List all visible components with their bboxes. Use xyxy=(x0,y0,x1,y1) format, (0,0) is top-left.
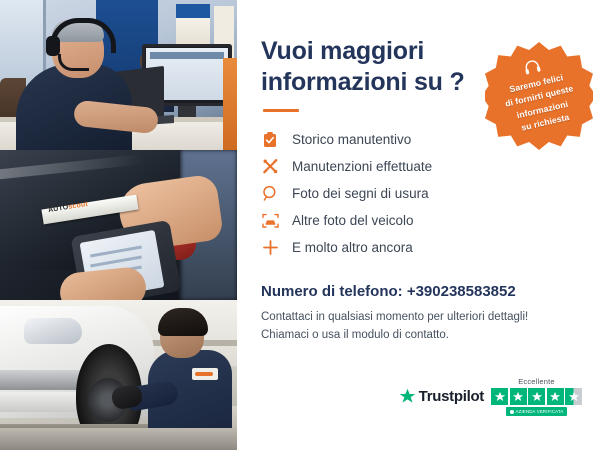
page-title-line1: Vuoi maggiori xyxy=(261,37,424,65)
contact-description-line2: Chiamaci o usa il modulo di contatto. xyxy=(261,329,449,341)
star-filled xyxy=(547,388,564,405)
trustpilot-widget[interactable]: Trustpilot Eccellente xyxy=(399,377,582,416)
uniform-logo-patch xyxy=(192,368,218,380)
star-filled xyxy=(491,388,508,405)
car-headlight xyxy=(24,318,82,344)
car-frame-icon xyxy=(261,212,279,230)
headset-icon xyxy=(523,58,543,76)
promo-banner: AUTOscout xyxy=(0,0,600,450)
monitor-screen-toolbar xyxy=(150,52,224,59)
contact-description: Contattaci in qualsiasi momento per ulte… xyxy=(261,309,578,345)
workshop-floor xyxy=(0,428,237,450)
list-item: Foto dei segni di usura xyxy=(261,180,578,207)
plus-icon xyxy=(261,239,279,257)
orange-pillar xyxy=(223,58,237,150)
tools-cross-icon xyxy=(261,158,279,176)
star-half xyxy=(565,388,582,405)
photo-vehicle-inspection: AUTOscout xyxy=(0,150,237,300)
list-item: E molto altro ancora xyxy=(261,234,578,261)
page-title-line2: informazioni su ? xyxy=(261,68,465,96)
inspector-hand-lower xyxy=(58,266,148,300)
magnifier-icon xyxy=(261,185,279,203)
trustpilot-rating-label: Eccellente xyxy=(518,377,555,386)
car-grille xyxy=(0,370,82,390)
headset-earcup xyxy=(46,36,60,56)
list-item: Manutenzioni effettuate xyxy=(261,153,578,180)
photo-call-center-agent xyxy=(0,0,237,150)
phone-number-label: Numero di telefono: +390238583852 xyxy=(261,283,578,300)
mechanic-hair xyxy=(158,308,208,336)
list-item-label: Storico manutentivo xyxy=(292,132,411,147)
title-underline xyxy=(263,109,299,112)
list-item-label: Foto dei segni di usura xyxy=(292,186,429,201)
star-filled xyxy=(528,388,545,405)
trustpilot-wordmark: Trustpilot xyxy=(419,388,484,405)
list-item-label: E molto altro ancora xyxy=(292,240,413,255)
callout-badge: Saremo felici di fornirti queste informa… xyxy=(485,42,593,150)
wall-poster xyxy=(176,4,210,48)
trustpilot-star-icon xyxy=(399,388,416,405)
verified-company-label: AZIENDA VERIFICATA xyxy=(516,409,564,414)
trustpilot-stars xyxy=(491,388,582,405)
photo-mechanic-at-work xyxy=(0,300,237,450)
star-filled xyxy=(510,388,527,405)
verified-company-badge: AZIENDA VERIFICATA xyxy=(506,407,568,416)
check-circle-icon xyxy=(510,410,514,414)
trustpilot-rating: Eccellente xyxy=(491,377,582,416)
trustpilot-logo: Trustpilot xyxy=(399,388,484,405)
page-title: Vuoi maggiori informazioni su ? xyxy=(261,36,471,97)
photo-column: AUTOscout xyxy=(0,0,237,450)
contact-description-line1: Contattaci in qualsiasi momento per ulte… xyxy=(261,311,528,323)
list-item: Altre foto del veicolo xyxy=(261,207,578,234)
list-item-label: Manutenzioni effettuate xyxy=(292,159,432,174)
list-item-label: Altre foto del veicolo xyxy=(292,213,414,228)
content-panel: Vuoi maggiori informazioni su ? Storico … xyxy=(237,0,600,450)
clipboard-check-icon xyxy=(261,131,279,149)
